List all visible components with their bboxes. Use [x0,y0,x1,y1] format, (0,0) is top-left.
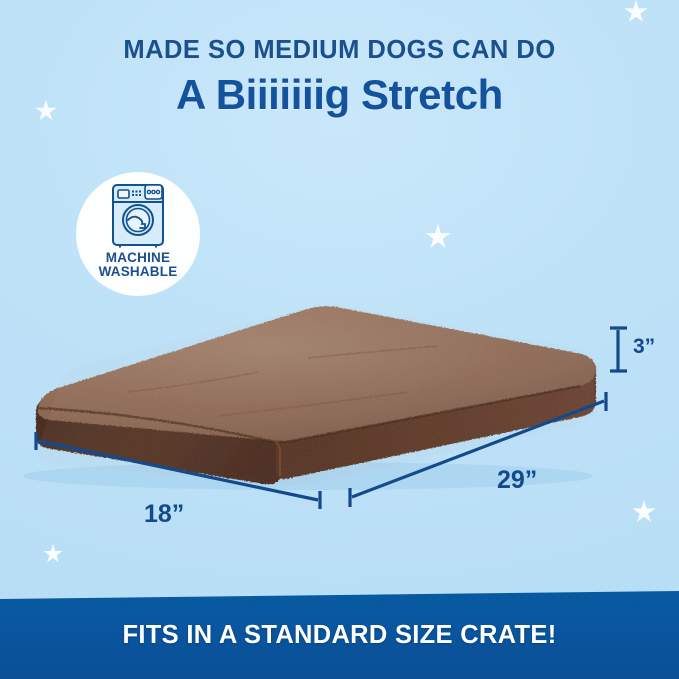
badge-label-line1: MACHINE [99,251,178,265]
machine-washable-badge: MACHINE WASHABLE [76,172,200,296]
dog-bed-product-image [8,288,628,488]
badge-label: MACHINE WASHABLE [99,251,178,279]
page-title: A Biiiiiiig Stretch [0,71,679,118]
bottom-banner-inner: FITS IN A STANDARD SIZE CRATE! [0,621,679,650]
bottom-banner: FITS IN A STANDARD SIZE CRATE! [0,591,679,679]
badge-label-line2: WASHABLE [99,265,178,279]
headline-block: MADE SO MEDIUM DOGS CAN DO A Biiiiiiig S… [0,36,679,118]
product-infographic: MADE SO MEDIUM DOGS CAN DO A Biiiiiiig S… [0,0,679,679]
bottom-banner-text: FITS IN A STANDARD SIZE CRATE! [123,621,557,649]
washing-machine-icon [109,182,167,248]
headline-kicker: MADE SO MEDIUM DOGS CAN DO [0,36,679,64]
